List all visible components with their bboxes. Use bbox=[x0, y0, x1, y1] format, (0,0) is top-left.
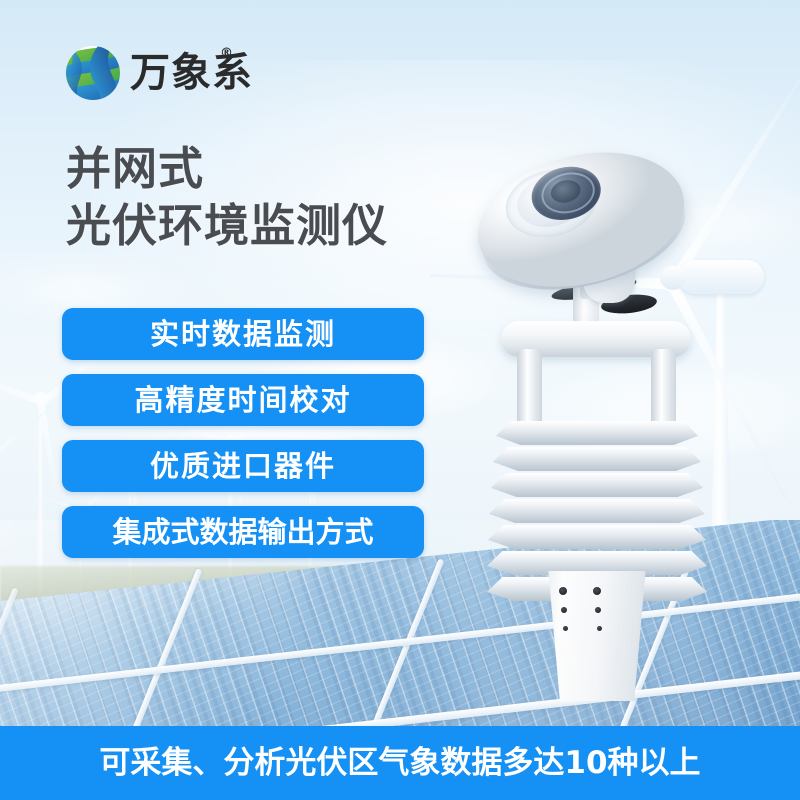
vent-hole-icon bbox=[563, 626, 568, 631]
registered-trademark-icon: ® bbox=[220, 46, 233, 61]
banner-text: 可采集、分析光伏区气象数据多达10种以上 bbox=[99, 726, 700, 800]
title-line-2: 光伏环境监测仪 bbox=[66, 197, 496, 254]
feature-pill-3[interactable]: 优质进口器件 bbox=[62, 440, 424, 492]
bottom-banner: 可采集、分析光伏区气象数据多达10种以上 bbox=[0, 726, 800, 800]
brand-name: 万象系 bbox=[130, 50, 253, 96]
feature-label: 优质进口器件 bbox=[150, 440, 336, 492]
louver-plate bbox=[493, 447, 701, 471]
louver-plate bbox=[496, 421, 698, 445]
feature-label: 集成式数据输出方式 bbox=[112, 506, 373, 558]
swirl-globe-icon bbox=[64, 44, 122, 102]
feature-label: 实时数据监测 bbox=[150, 308, 336, 360]
feature-pill-1[interactable]: 实时数据监测 bbox=[62, 308, 424, 360]
louver-plate bbox=[491, 473, 703, 497]
louver-plate bbox=[489, 499, 705, 523]
title-line-1: 并网式 bbox=[66, 140, 496, 197]
feature-list: 实时数据监测 高精度时间校对 优质进口器件 集成式数据输出方式 bbox=[62, 308, 424, 572]
feature-label: 高精度时间校对 bbox=[134, 374, 351, 426]
feature-pill-4[interactable]: 集成式数据输出方式 bbox=[62, 506, 424, 558]
product-image bbox=[455, 135, 745, 705]
brand-logo[interactable]: 万象系 ® bbox=[64, 42, 264, 104]
vent-hole-icon bbox=[559, 587, 567, 595]
vent-hole-icon bbox=[595, 607, 601, 613]
product-banner: 万象系 ® 并网式 光伏环境监测仪 实时数据监测 高精度时间校对 优质进口器件 … bbox=[0, 0, 800, 800]
vent-hole-icon bbox=[561, 607, 567, 613]
wind-arm-leg bbox=[651, 349, 676, 431]
vent-hole-icon bbox=[597, 626, 602, 631]
pyranometer-sensor bbox=[459, 110, 725, 335]
wind-arm-leg bbox=[517, 349, 542, 431]
sensor-housing bbox=[533, 571, 661, 701]
page-title: 并网式 光伏环境监测仪 bbox=[66, 140, 496, 254]
feature-pill-2[interactable]: 高精度时间校对 bbox=[62, 374, 424, 426]
louver-plate bbox=[488, 525, 706, 549]
vent-hole-icon bbox=[593, 587, 601, 595]
